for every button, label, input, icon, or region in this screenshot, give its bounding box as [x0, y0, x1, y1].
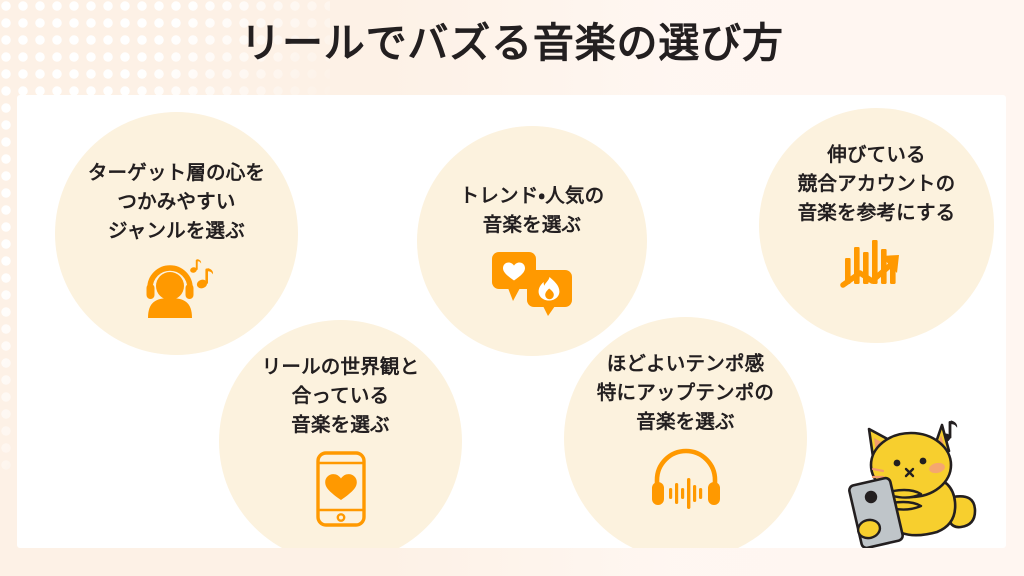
bubble-competitor-reference[interactable]: 伸びている 競合アカウントの 音楽を参考にする: [759, 108, 994, 343]
bubble-tempo-label: ほどよいテンポ感 特にアップテンポの 音楽を選ぶ: [564, 317, 807, 437]
slide-canvas: リールでバズる音楽の選び方 ターゲット層の心を つかみやすい ジャンルを選ぶ: [0, 0, 1024, 576]
bubble-target-genre[interactable]: ターゲット層の心を つかみやすい ジャンルを選ぶ: [55, 112, 298, 355]
bubble-tempo[interactable]: ほどよいテンポ感 特にアップテンポの 音楽を選ぶ: [564, 317, 807, 548]
bar-chart-rising-arrow-icon: [841, 238, 913, 292]
headphones-waveform-icon: [650, 447, 722, 509]
smartphone-heart-icon: [315, 450, 367, 528]
content-card: ターゲット層の心を つかみやすい ジャンルを選ぶ: [17, 95, 1006, 548]
speech-bubbles-heart-fire-icon: [490, 250, 574, 316]
cat-with-smartphone-mascot: [849, 413, 1001, 548]
bubble-trend-popular-label: トレンド・人気の 音楽を選ぶ: [417, 126, 647, 240]
bubble-world-view-match[interactable]: リールの世界観と 合っている 音楽を選ぶ: [219, 320, 462, 548]
bubble-target-genre-label: ターゲット層の心を つかみやすい ジャンルを選ぶ: [55, 112, 298, 246]
page-title: リールでバズる音楽の選び方: [0, 18, 1024, 69]
bubble-competitor-reference-label: 伸びている 競合アカウントの 音楽を参考にする: [759, 108, 994, 228]
bubble-world-view-match-label: リールの世界観と 合っている 音楽を選ぶ: [219, 320, 462, 440]
person-headphones-music-icon: [140, 256, 214, 318]
